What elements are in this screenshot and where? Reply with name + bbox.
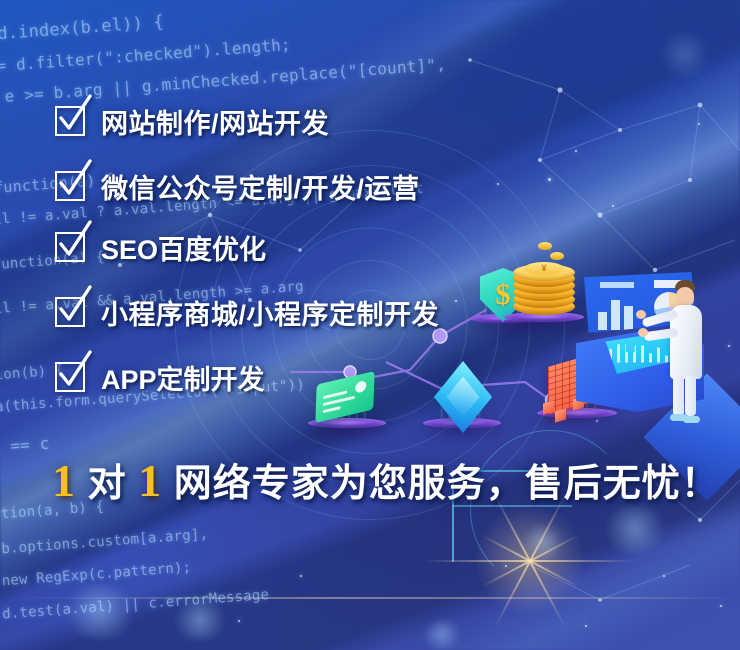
feature-item-miniprogram[interactable]: 小程序商城/小程序定制开发	[55, 290, 695, 334]
checkbox-checked-icon[interactable]	[55, 297, 85, 327]
tagline-mid-word: 对	[88, 463, 127, 505]
checkbox-checked-icon[interactable]	[55, 106, 85, 136]
service-feature-list: 网站制作/网站开发 微信公众号定制/开发/运营 SEO百度优化 小程序商城/小程…	[55, 99, 695, 420]
feature-item-website[interactable]: 网站制作/网站开发	[55, 99, 695, 143]
tagline: 1 对 1 网络专家为您服务，售后无忧！	[52, 452, 720, 507]
checkbox-checked-icon[interactable]	[55, 362, 85, 392]
feature-item-app[interactable]: APP定制开发	[55, 355, 695, 399]
banner-content: 网站制作/网站开发 微信公众号定制/开发/运营 SEO百度优化 小程序商城/小程…	[0, 0, 740, 650]
checkbox-checked-icon[interactable]	[55, 232, 85, 262]
feature-item-seo[interactable]: SEO百度优化	[55, 225, 695, 269]
feature-label: SEO百度优化	[101, 228, 266, 267]
feature-label: APP定制开发	[101, 358, 265, 397]
promo-banner: .querySelectorAll("input[type=checkbox]"…	[0, 0, 740, 650]
feature-label: 网站制作/网站开发	[101, 102, 329, 141]
checkbox-checked-icon[interactable]	[55, 171, 85, 201]
tagline-rest: 网络专家为您服务，售后无忧！	[174, 463, 720, 505]
feature-label: 微信公众号定制/开发/运营	[101, 167, 420, 206]
tagline-number-second: 1	[138, 455, 162, 506]
tagline-number-first: 1	[52, 455, 76, 506]
feature-label: 小程序商城/小程序定制开发	[101, 293, 439, 332]
feature-item-wechat[interactable]: 微信公众号定制/开发/运营	[55, 164, 695, 208]
